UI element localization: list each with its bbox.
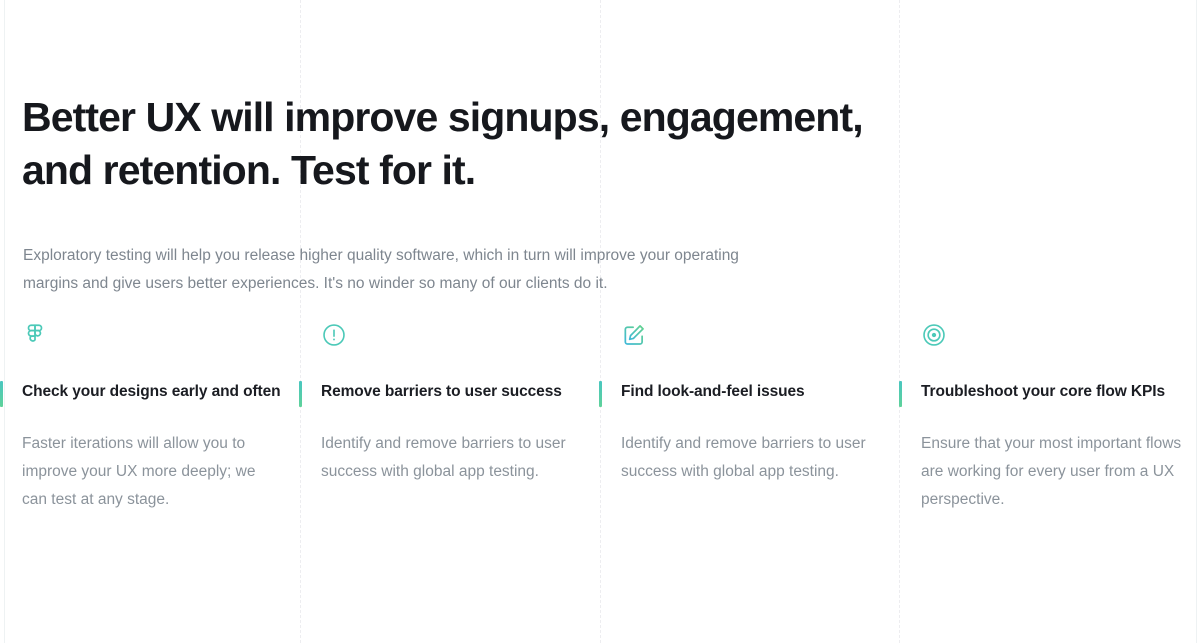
right-edge-rule — [1196, 0, 1197, 643]
feature-heading-4-line-1: Troubleshoot your core flow — [921, 383, 1127, 400]
marketing-section: Better UX will improve signups, engageme… — [0, 0, 1200, 643]
feature-column-3: Find look-and-feel issues Identify and r… — [621, 322, 883, 486]
feature-body-4: Ensure that your most important flows ar… — [921, 430, 1183, 514]
feature-heading-row-2: Remove barriers to user success — [321, 378, 583, 405]
feature-heading-4: Troubleshoot your core flow KPIs — [921, 378, 1183, 405]
accent-bar — [299, 381, 302, 407]
accent-bar — [899, 381, 902, 407]
feature-body-1: Faster iterations will allow you to impr… — [22, 430, 284, 514]
feature-heading-3-line-1: Find look-and-feel issues — [621, 383, 805, 400]
headline-line-2: and retention. Test for it. — [22, 144, 902, 197]
edit-square-icon — [621, 322, 647, 348]
figma-icon — [22, 322, 48, 348]
feature-body-2: Identify and remove barriers to user suc… — [321, 430, 583, 486]
feature-body-3: Identify and remove barriers to user suc… — [621, 430, 883, 486]
intro-line-1: Exploratory testing will help you releas… — [23, 242, 883, 270]
feature-column-2: Remove barriers to user success Identify… — [321, 322, 583, 486]
feature-heading-2: Remove barriers to user success — [321, 378, 583, 405]
feature-heading-row-4: Troubleshoot your core flow KPIs — [921, 378, 1183, 405]
feature-heading-2-line-1: Remove barriers to user — [321, 383, 497, 400]
accent-bar — [599, 381, 602, 407]
accent-bar — [0, 381, 3, 407]
feature-heading-1-line-1: Check your designs early and — [22, 383, 239, 400]
feature-heading-4-line-2: KPIs — [1131, 383, 1165, 400]
target-icon — [921, 322, 947, 348]
feature-column-1: Check your designs early and often Faste… — [22, 322, 284, 514]
headline-line-1: Better UX will improve signups, engageme… — [22, 91, 902, 144]
feature-heading-1: Check your designs early and often — [22, 378, 284, 405]
feature-heading-1-line-2: often — [243, 383, 280, 400]
intro-paragraph: Exploratory testing will help you releas… — [23, 242, 883, 298]
feature-heading-2-line-2: success — [501, 383, 562, 400]
page-title: Better UX will improve signups, engageme… — [22, 91, 902, 197]
feature-heading-3: Find look-and-feel issues — [621, 378, 883, 405]
alert-circle-icon — [321, 322, 347, 348]
intro-line-2: margins and give users better experience… — [23, 270, 883, 298]
feature-column-4: Troubleshoot your core flow KPIs Ensure … — [921, 322, 1183, 514]
feature-heading-row-1: Check your designs early and often — [22, 378, 284, 405]
left-edge-rule — [4, 0, 5, 643]
feature-heading-row-3: Find look-and-feel issues — [621, 378, 883, 405]
